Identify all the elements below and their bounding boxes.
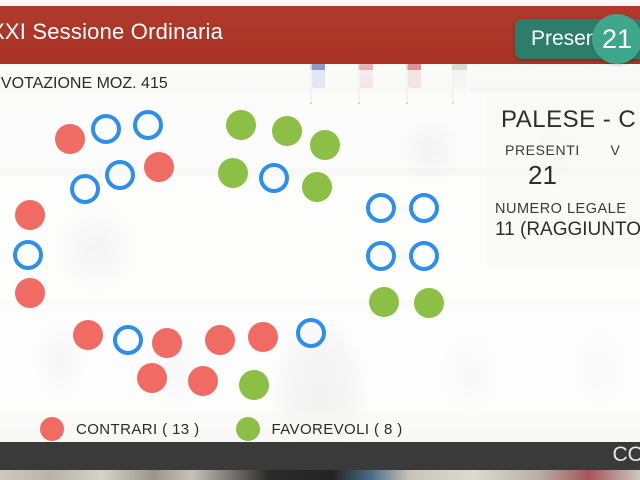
vote-dot-contrario — [205, 325, 235, 355]
vote-dot-favorevole — [302, 172, 332, 202]
vote-dot-assente — [105, 160, 135, 190]
vote-dot-assente — [366, 193, 396, 223]
vote-dot-favorevole — [369, 287, 399, 317]
vote-dot-favorevole — [272, 116, 302, 146]
vote-dot-contrario — [188, 366, 218, 396]
bottom-photo-strip — [0, 470, 640, 480]
vote-dot-assente — [259, 163, 289, 193]
vote-dot-contrario — [152, 328, 182, 358]
vote-dot-assente — [296, 318, 326, 348]
vote-dot-contrario — [15, 278, 45, 308]
vote-dot-favorevole — [218, 158, 248, 188]
legend-item-favorevoli: FAVOREVOLI ( 8 ) — [236, 417, 403, 441]
vote-dot-contrario — [137, 363, 167, 393]
vote-dot-favorevole — [414, 288, 444, 318]
vote-dot-assente — [70, 174, 100, 204]
vote-dot-contrario — [15, 200, 45, 230]
vote-dot-contrario — [248, 322, 278, 352]
legend: CONTRARI ( 13 ) FAVOREVOLI ( 8 ) — [0, 412, 640, 446]
vote-dot-assente — [91, 114, 121, 144]
favorevoli-dot-icon — [236, 417, 260, 441]
vote-dot-contrario — [73, 320, 103, 350]
legend-label-favorevoli: FAVOREVOLI ( 8 ) — [272, 421, 403, 438]
bottom-dark-bar: CO — [0, 442, 640, 470]
vote-dot-assente — [366, 241, 396, 271]
vote-dot-assente — [133, 110, 163, 140]
voting-board-screen: XXI Sessione Ordinaria Presenti 21 : VOT… — [0, 0, 640, 480]
vote-dot-favorevole — [239, 370, 269, 400]
vote-dot-assente — [409, 193, 439, 223]
bottom-bar-text: CO — [613, 443, 640, 467]
legend-item-contrari: CONTRARI ( 13 ) — [40, 417, 200, 441]
legend-label-contrari: CONTRARI ( 13 ) — [76, 421, 200, 438]
vote-dot-favorevole — [226, 110, 256, 140]
vote-dot-assente — [409, 241, 439, 271]
vote-dot-contrario — [144, 152, 174, 182]
vote-dot-contrario — [55, 124, 85, 154]
vote-dot-assente — [13, 240, 43, 270]
contrari-dot-icon — [40, 417, 64, 441]
vote-dot-assente — [113, 325, 143, 355]
vote-dot-favorevole — [310, 130, 340, 160]
vote-dots-grid — [0, 0, 640, 480]
